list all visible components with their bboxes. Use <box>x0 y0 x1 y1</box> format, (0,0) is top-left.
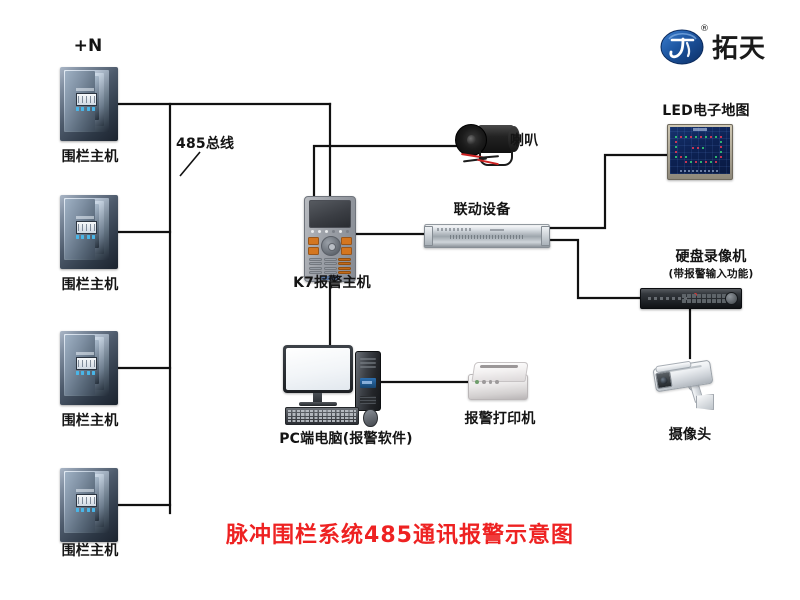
dvr-label: 硬盘录像机 <box>636 246 786 266</box>
wire-linkage-to-dvr <box>540 240 640 298</box>
wire-linkage-to-ledmap <box>540 155 668 228</box>
bus-label: 485总线 <box>176 133 256 153</box>
fence-host-2-label: 围栏主机 <box>42 274 138 294</box>
fence-host-icon <box>60 195 118 269</box>
speaker-label: 喇叭 <box>510 130 570 150</box>
camera[interactable] <box>648 358 734 416</box>
brand-logo: ® 拓天 <box>660 24 790 72</box>
bus-label-leader <box>180 152 200 176</box>
fence-host-1[interactable] <box>60 67 118 141</box>
brand-name: 拓天 <box>712 28 766 65</box>
camera-label: 摄像头 <box>632 424 748 444</box>
linkage-device-label: 联动设备 <box>422 199 542 219</box>
led-map-icon <box>667 124 733 180</box>
fence-host-3-label: 围栏主机 <box>42 410 138 430</box>
linkage-rack-icon <box>424 220 550 250</box>
diagram-canvas: ® 拓天 +N 485总线 围栏主机 围栏主机 <box>0 0 800 600</box>
fence-host-1-label: 围栏主机 <box>42 146 138 166</box>
fence-host-icon <box>60 331 118 405</box>
plus-n-label: +N <box>58 36 118 56</box>
k7-alarm-host-icon <box>304 196 356 282</box>
pc-workstation[interactable] <box>283 345 393 425</box>
dvr[interactable] <box>640 286 742 310</box>
fence-host-2[interactable] <box>60 195 118 269</box>
led-map-label: LED电子地图 <box>632 100 780 120</box>
dvr-icon <box>640 286 742 310</box>
alarm-printer[interactable] <box>468 358 530 400</box>
fence-host-icon <box>60 67 118 141</box>
wire-k7-to-speaker <box>314 146 457 196</box>
printer-icon <box>468 358 530 400</box>
linkage-device[interactable] <box>424 220 550 250</box>
pc-icon <box>283 345 393 425</box>
k7-alarm-host-label: K7报警主机 <box>274 272 390 292</box>
led-electronic-map[interactable] <box>667 124 733 180</box>
fence-host-3[interactable] <box>60 331 118 405</box>
registered-mark: ® <box>700 24 709 34</box>
dvr-sublabel: (带报警输入功能) <box>636 266 786 281</box>
k7-alarm-host[interactable] <box>304 196 356 282</box>
printer-label: 报警打印机 <box>440 408 560 428</box>
camera-icon <box>648 358 734 416</box>
diagram-title: 脉冲围栏系统485通讯报警示意图 <box>0 517 800 549</box>
pc-label: PC端电脑(报警软件) <box>258 428 434 448</box>
